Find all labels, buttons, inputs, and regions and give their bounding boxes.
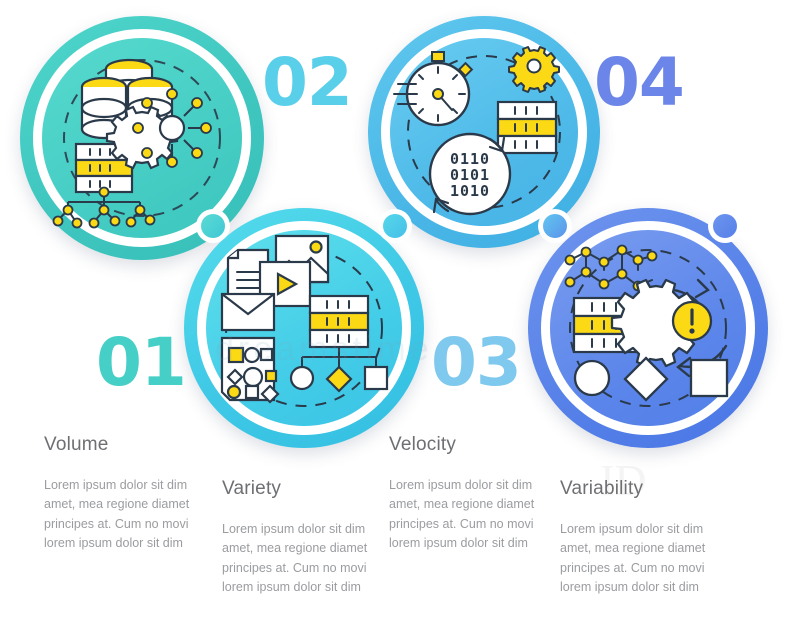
caption-body-variety: Lorem ipsum dolor sit dim amet, mea regi…: [222, 520, 387, 598]
caption-title-velocity: Velocity: [389, 434, 554, 456]
step-circle-02[interactable]: [184, 208, 424, 448]
step-number-01: 01: [96, 330, 186, 396]
infographic-canvas: 0110 0101 1010: [0, 0, 800, 620]
caption-variety: Variety Lorem ipsum dolor sit dim amet, …: [222, 478, 387, 598]
caption-title-variability: Variability: [560, 478, 725, 500]
caption-volume: Volume Lorem ipsum dolor sit dim amet, m…: [44, 434, 209, 554]
connector-knob-1: [196, 209, 230, 243]
variability-illustration: [528, 208, 768, 448]
variety-illustration: [184, 208, 424, 448]
caption-velocity: Velocity Lorem ipsum dolor sit dim amet,…: [389, 434, 554, 554]
caption-body-velocity: Lorem ipsum dolor sit dim amet, mea regi…: [389, 476, 554, 554]
caption-variability: Variability Lorem ipsum dolor sit dim am…: [560, 478, 725, 598]
caption-title-volume: Volume: [44, 434, 209, 456]
caption-title-variety: Variety: [222, 478, 387, 500]
caption-body-volume: Lorem ipsum dolor sit dim amet, mea regi…: [44, 476, 209, 554]
step-number-03: 03: [431, 330, 521, 396]
step-number-04: 04: [594, 50, 684, 116]
step-circle-04[interactable]: [528, 208, 768, 448]
connector-knob-3: [538, 209, 572, 243]
connector-knob-2: [378, 209, 412, 243]
caption-body-variability: Lorem ipsum dolor sit dim amet, mea regi…: [560, 520, 725, 598]
svg-text:1010: 1010: [450, 182, 490, 200]
step-number-02: 02: [262, 50, 352, 116]
connector-knob-4: [708, 209, 742, 243]
